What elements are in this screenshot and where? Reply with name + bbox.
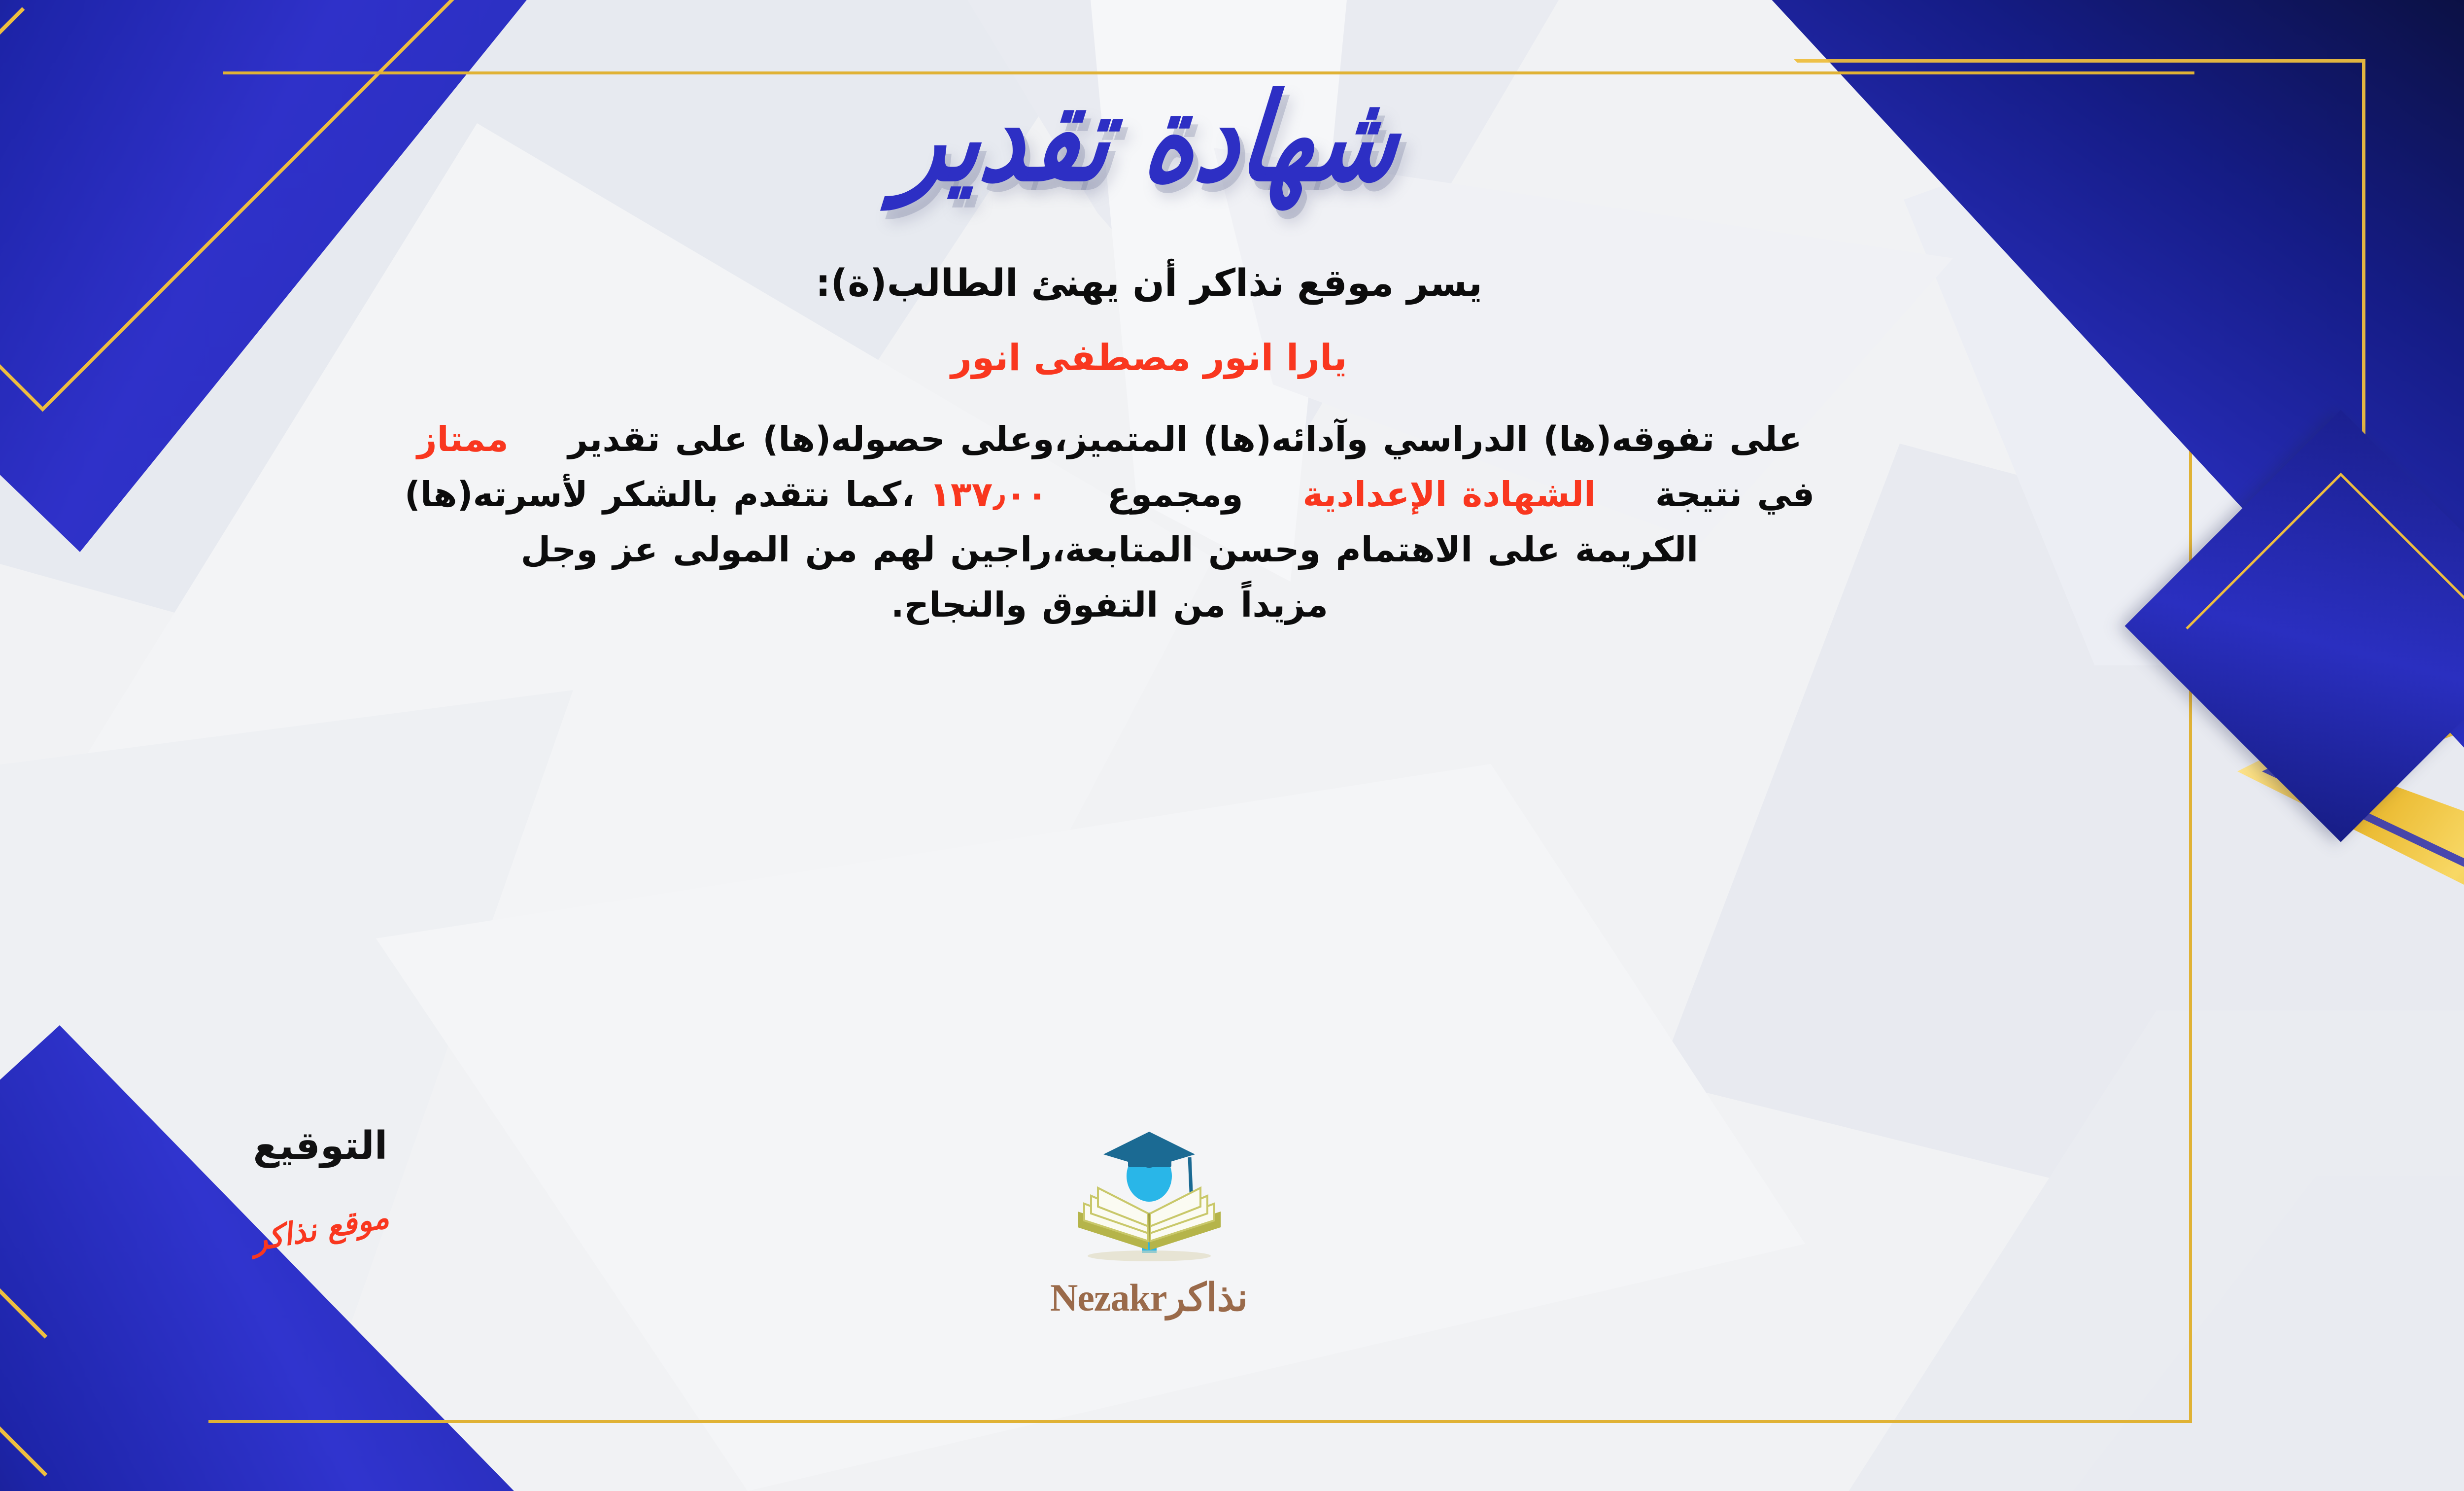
certificate-page: شهادة تقدير يسر موقع نذاكر أن يهنئ الطال… — [0, 0, 2464, 1491]
citation-segment-4: ،كما نتقدم بالشكر لأسرته(ها) — [405, 474, 915, 515]
graduate-on-open-book-icon — [1068, 1129, 1231, 1272]
citation-segment-3: ومجموع — [1107, 474, 1243, 515]
certificate-content: شهادة تقدير يسر موقع نذاكر أن يهنئ الطال… — [0, 0, 2464, 1491]
signature-mark: موقع نذاكر — [249, 1199, 392, 1258]
citation-segment-1: على تفوقه(ها) الدراسي وآدائه(ها) المتميز… — [568, 419, 1802, 459]
page-title: شهادة تقدير — [893, 78, 1405, 198]
signature-area: التوقيع موقع نذاكر — [163, 1124, 478, 1247]
signature-label: التوقيع — [163, 1124, 478, 1168]
grade-value: ممتاز — [417, 419, 508, 459]
citation-segment-6: مزيداً من التفوق والنجاح. — [891, 585, 1328, 625]
citation-segment-5: الكريمة على الاهتمام وحسن المتابعة،راجين… — [521, 529, 1699, 570]
intro-line: يسر موقع نذاكر أن يهنئ الطالب(ة): — [114, 256, 2184, 310]
logo-name-ar: نذاكر — [1167, 1276, 1248, 1319]
citation-segment-2: في نتيجة — [1655, 474, 1814, 515]
logo-name-en: Nezakr — [1050, 1276, 1167, 1319]
citation-paragraph: على تفوقه(ها) الدراسي وآدائه(ها) المتميز… — [35, 412, 2184, 632]
total-score: ١٣٧٫٠٠ — [929, 474, 1048, 515]
nezakr-logo: نذاكرNezakr — [1011, 1129, 1287, 1320]
certificate-title-block: شهادة تقدير — [900, 64, 1399, 212]
certificate-body: يسر موقع نذاكر أن يهنئ الطالب(ة): يارا ا… — [114, 256, 2184, 632]
student-name: يارا انور مصطفى انور — [114, 332, 2184, 384]
exam-name: الشهادة الإعدادية — [1302, 474, 1596, 515]
logo-wordmark: نذاكرNezakr — [1011, 1276, 1287, 1320]
certificate-footer: التوقيع موقع نذاكر — [0, 1124, 2464, 1439]
